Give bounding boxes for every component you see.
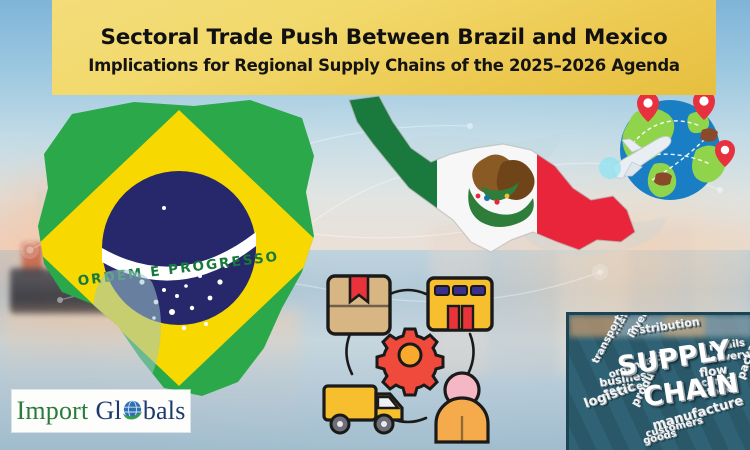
south-america-silhouette: [93, 270, 161, 396]
brand-logo-bals: bals: [143, 398, 186, 424]
brazil-flag-fill: ORDEM E PROGRESSO: [14, 96, 344, 406]
gear-icon: [377, 329, 443, 395]
warehouse-icon: [428, 278, 492, 330]
page-subtitle: Implications for Regional Supply Chains …: [88, 57, 679, 75]
supply-chain-icon-cluster: [312, 262, 507, 448]
globe-icon: [122, 399, 143, 425]
brand-logo[interactable]: Import Gl bals: [12, 390, 190, 432]
globe-shipping-icon: [592, 92, 742, 204]
brand-logo-text: Import Gl bals: [16, 398, 185, 424]
package-box-icon: [328, 276, 390, 334]
supply-chain-wordcloud: distribution management inventory retail…: [566, 312, 750, 450]
brand-logo-import: Import: [16, 398, 88, 424]
poster-canvas: ORDEM E PROGRESSO: [0, 0, 750, 450]
page-title: Sectoral Trade Push Between Brazil and M…: [100, 26, 667, 50]
customer-person-icon: [436, 373, 488, 442]
brazil-map-flag: ORDEM E PROGRESSO: [14, 96, 344, 406]
delivery-truck-icon: [324, 386, 402, 433]
wordcloud-words: distribution management inventory retail…: [569, 315, 750, 450]
title-banner: Sectoral Trade Push Between Brazil and M…: [52, 0, 716, 95]
brand-logo-gl: Gl: [95, 398, 121, 424]
